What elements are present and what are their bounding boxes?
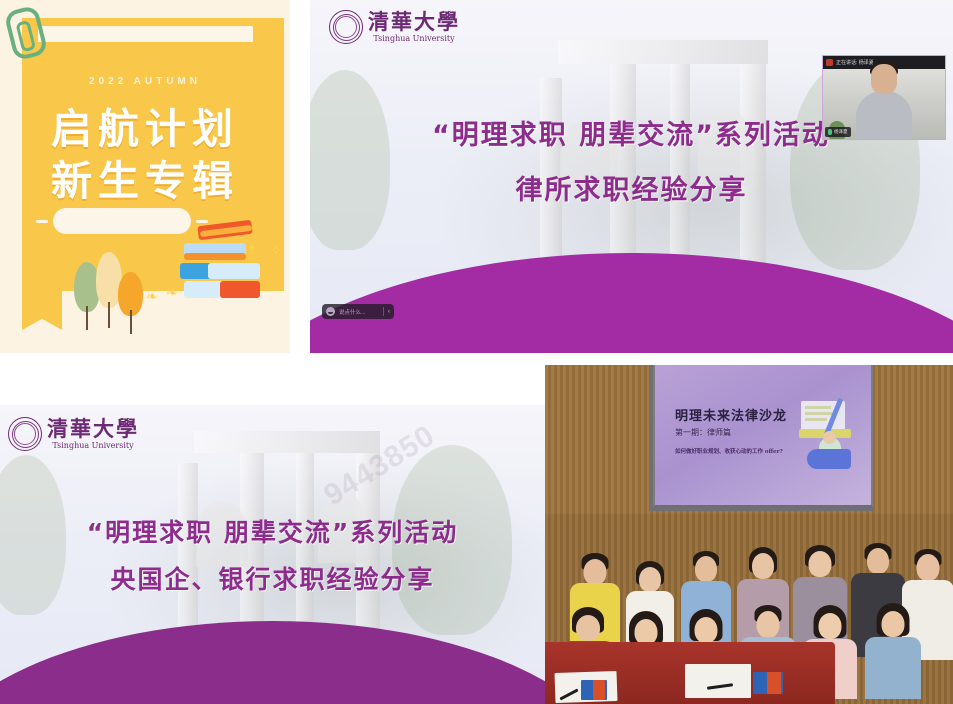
collage-stage: 2022 AUTUMN 启航计划 新生专辑 ❧ ❧ ✦ ✦ ✦ ✧	[0, 0, 953, 704]
poster-title-line2: 新生专辑	[0, 147, 290, 207]
video-thumbnail-tile[interactable]: 正在讲话: 杨泽夏 杨泽夏	[822, 55, 946, 140]
slide-title-line1: “明理求职 朋辈交流”系列活动	[0, 513, 545, 549]
leaf-icon: ❧	[146, 288, 158, 305]
law-firm-slide-panel: 清華大學 Tsinghua University “明理求职 朋辈交流”系列活动…	[310, 0, 953, 353]
autumn-poster-panel: 2022 AUTUMN 启航计划 新生专辑 ❧ ❧ ✦ ✦ ✦ ✧	[0, 0, 290, 353]
speaker-name-badge: 杨泽夏	[825, 127, 851, 137]
tsinghua-logo-zh: 清華大學	[368, 10, 460, 34]
chat-divider	[383, 307, 384, 316]
tsinghua-logo-en: Tsinghua University	[47, 441, 139, 451]
slide-title-line2: 律所求职经验分享	[310, 168, 953, 207]
tsinghua-logo-en: Tsinghua University	[368, 34, 460, 44]
tsinghua-logo-zh: 清華大學	[47, 417, 139, 441]
tsinghua-logo: 清華大學 Tsinghua University	[329, 10, 460, 44]
person-at-desk-illustration	[797, 399, 859, 469]
projected-tagline: 如何做好职业规划、收获心动的工作 offer?	[675, 447, 783, 455]
poster-card-top-strip	[38, 26, 253, 42]
tsinghua-logo: 清華大學 Tsinghua University	[8, 417, 139, 451]
chat-placeholder[interactable]: 说点什么...	[339, 308, 379, 316]
poster-title-line1: 启航计划	[0, 95, 290, 155]
projection-screen: 明理未来法律沙龙 第一期：律师篇 如何做好职业规划、收获心动的工作 offer?	[653, 365, 873, 507]
video-status-text: 正在讲话: 杨泽夏	[836, 59, 874, 66]
tsinghua-seal-icon	[8, 417, 42, 451]
tree-icon	[118, 272, 143, 332]
person-figure	[863, 603, 923, 695]
slide-title-line2: 央国企、银行求职经验分享	[0, 560, 545, 596]
group-photo-panel: 明理未来法律沙龙 第一期：律师篇 如何做好职业规划、收获心动的工作 offer?	[545, 365, 953, 704]
emoji-icon[interactable]	[326, 307, 335, 316]
chat-input-bar[interactable]: 说点什么... ‹	[322, 304, 394, 319]
tsinghua-seal-icon	[329, 10, 363, 44]
poster-eyebrow: 2022 AUTUMN	[0, 76, 290, 87]
microphone-icon	[828, 129, 832, 135]
brochure	[767, 672, 781, 694]
poster-dash-left	[36, 220, 48, 223]
leaf-icon: ❧	[166, 284, 178, 301]
soe-bank-slide-panel: 9443850 清華大學 Tsinghua University “明理求职 朋…	[0, 405, 545, 704]
glasses-icon	[872, 55, 896, 56]
poster-blank-pill	[53, 208, 191, 234]
paperclip-icon	[3, 5, 48, 62]
speaker-head	[871, 64, 897, 94]
paper-sheet	[685, 664, 751, 698]
projected-title: 明理未来法律沙龙	[675, 405, 787, 424]
speaker-figure	[856, 91, 912, 139]
brochure	[593, 680, 605, 700]
send-icon[interactable]: ‹	[388, 309, 390, 315]
speaker-name-text: 杨泽夏	[834, 129, 848, 135]
projected-subtitle: 第一期：律师篇	[675, 427, 731, 438]
record-icon	[826, 59, 833, 66]
book-stack-icon	[180, 219, 284, 307]
